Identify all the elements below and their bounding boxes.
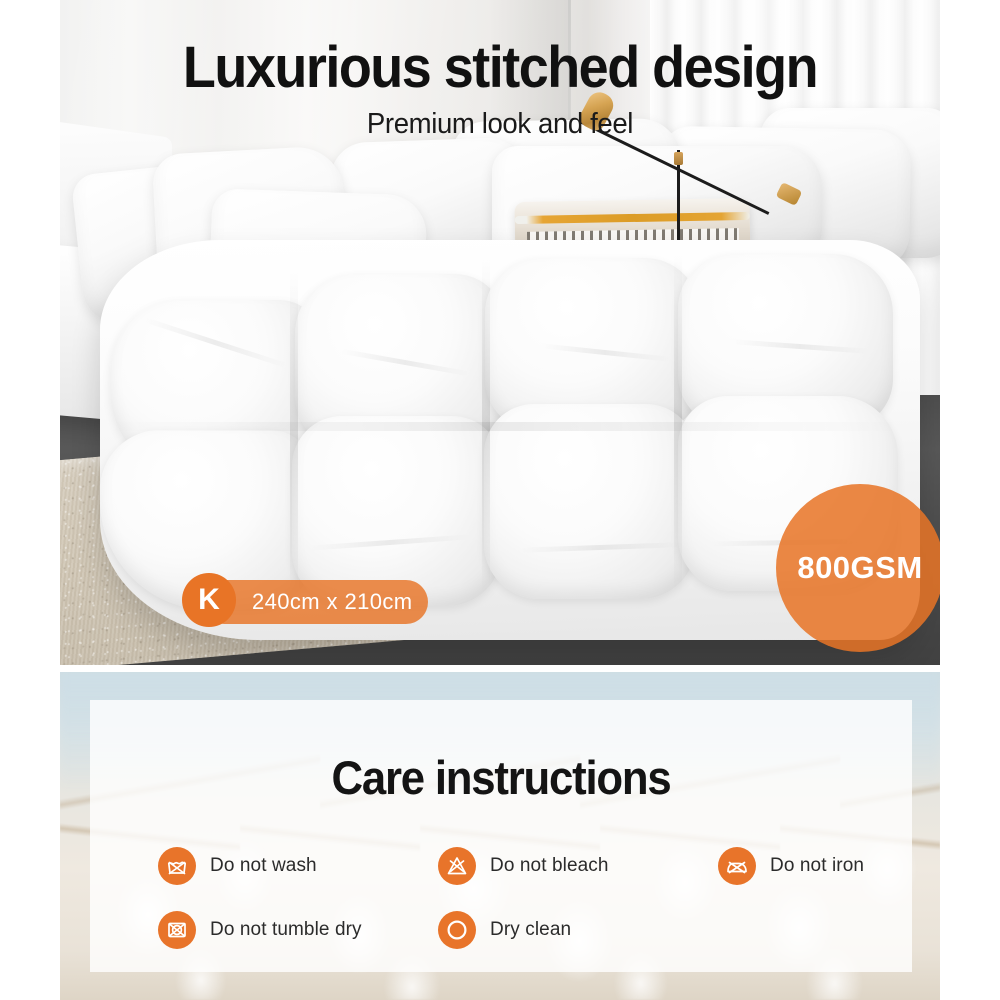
care-item-label: Do not iron [770, 855, 864, 877]
care-item-label: Do not wash [210, 855, 317, 877]
do-not-iron-icon [718, 847, 756, 885]
size-code-circle: K [182, 573, 236, 627]
do-not-bleach-icon [438, 847, 476, 885]
care-instructions-title: Care instructions [119, 750, 883, 805]
cushion-gold-stripe [515, 212, 750, 224]
care-instructions-section: Care instructions Do not wash [60, 672, 940, 1000]
care-item-do-not-iron: Do not iron [718, 847, 918, 885]
quilt-seam [290, 270, 298, 600]
care-item-do-not-wash: Do not wash [158, 847, 438, 885]
size-dimensions-label: 240cm x 210cm [252, 589, 413, 615]
gsm-badge: 800GSM [776, 484, 940, 652]
care-item-do-not-tumble-dry: Do not tumble dry [158, 911, 438, 949]
care-row: Do not tumble dry Dry clean [158, 898, 918, 962]
do-not-wash-icon [158, 847, 196, 885]
product-infographic-page: K 240cm x 210cm 800GSM Luxurious stitche… [0, 0, 1000, 1000]
care-row: Do not wash Do not bleach [158, 834, 918, 898]
floor-lamp-joint [674, 152, 683, 165]
hero-title: Luxurious stitched design [35, 34, 965, 101]
quilt-puff [484, 404, 696, 599]
quilt-seam [104, 422, 904, 431]
size-badge: K 240cm x 210cm [182, 580, 413, 624]
quilt-puff [292, 416, 502, 606]
do-not-tumble-dry-icon [158, 911, 196, 949]
care-instructions-card: Care instructions Do not wash [90, 700, 912, 972]
care-item-dry-clean: Dry clean [438, 911, 718, 949]
size-code-label: K [198, 583, 220, 617]
care-item-do-not-bleach: Do not bleach [438, 847, 718, 885]
gsm-badge-label: 800GSM [797, 550, 922, 586]
care-item-label: Do not bleach [490, 855, 609, 877]
dry-clean-icon [438, 911, 476, 949]
care-instructions-grid: Do not wash Do not bleach [158, 834, 918, 962]
hero-subtitle: Premium look and feel [25, 108, 975, 141]
care-item-label: Dry clean [490, 919, 571, 941]
care-item-label: Do not tumble dry [210, 919, 362, 941]
